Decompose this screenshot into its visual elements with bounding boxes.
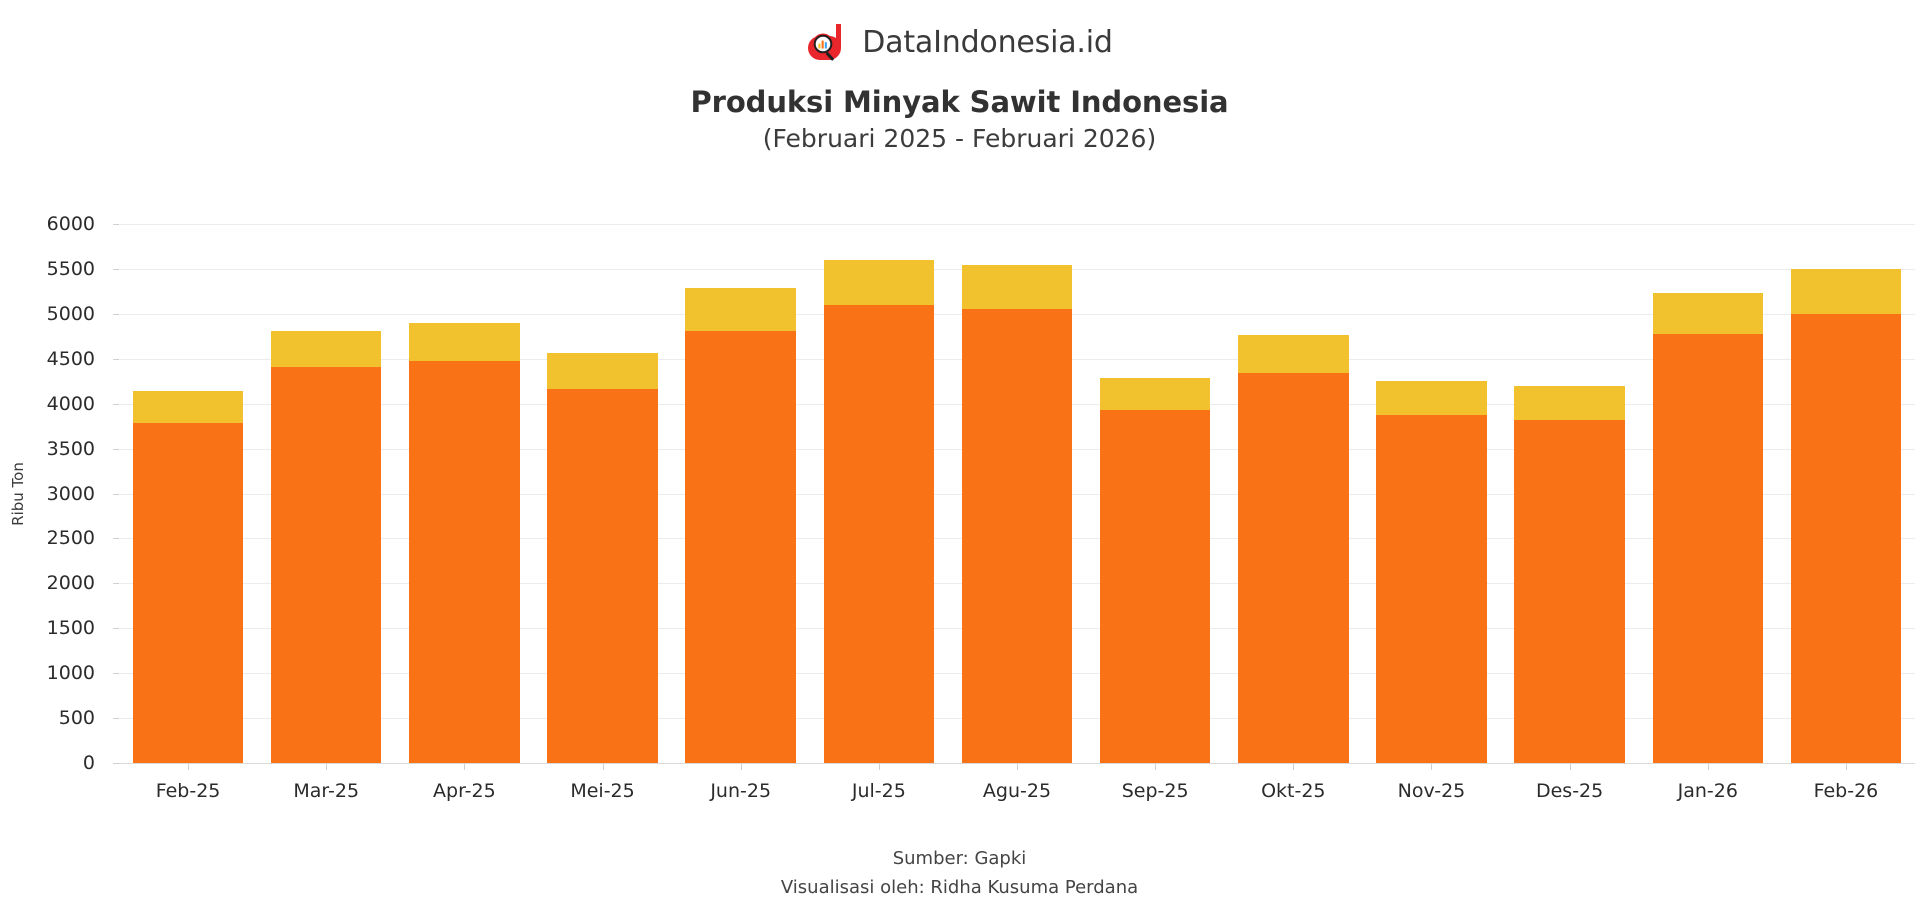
- bar-segment-upper[interactable]: [271, 331, 382, 367]
- y-tick-label: 3000: [25, 483, 95, 505]
- bar-segment-lower[interactable]: [1791, 314, 1902, 763]
- bar-segment-upper[interactable]: [1238, 335, 1349, 372]
- y-tick-mark: [113, 269, 119, 270]
- x-tick-label: Jun-25: [710, 780, 771, 802]
- footer-credit: Visualisasi oleh: Ridha Kusuma Perdana: [0, 877, 1919, 898]
- bar-segment-lower[interactable]: [1100, 410, 1211, 763]
- footer-source: Sumber: Gapki: [0, 848, 1919, 869]
- bar-segment-upper[interactable]: [547, 353, 658, 389]
- x-tick-label: Mei-25: [570, 780, 634, 802]
- x-tick-label: Jul-25: [852, 780, 906, 802]
- y-tick-mark: [113, 673, 119, 674]
- bar-segment-lower[interactable]: [271, 367, 382, 763]
- x-tick-mark: [1155, 763, 1156, 770]
- bar-jan-26[interactable]: [1653, 293, 1764, 763]
- y-tick-mark: [113, 583, 119, 584]
- y-tick-label: 4000: [25, 393, 95, 415]
- x-tick-mark: [188, 763, 189, 770]
- x-tick-mark: [1570, 763, 1571, 770]
- bar-segment-lower[interactable]: [409, 361, 520, 763]
- y-tick-label: 1500: [25, 617, 95, 639]
- y-tick-mark: [113, 404, 119, 405]
- bar-segment-lower[interactable]: [962, 309, 1073, 763]
- bar-sep-25[interactable]: [1100, 378, 1211, 763]
- x-tick-label: Feb-25: [156, 780, 221, 802]
- x-tick-label: Agu-25: [983, 780, 1051, 802]
- chart-page: DataIndonesia.id Produksi Minyak Sawit I…: [0, 0, 1919, 900]
- y-tick-mark: [113, 449, 119, 450]
- bar-segment-upper[interactable]: [1514, 386, 1625, 420]
- bar-segment-upper[interactable]: [133, 391, 244, 423]
- x-tick-mark: [741, 763, 742, 770]
- bar-segment-upper[interactable]: [1100, 378, 1211, 411]
- y-tick-mark: [113, 538, 119, 539]
- bar-nov-25[interactable]: [1376, 381, 1487, 763]
- bar-segment-upper[interactable]: [1791, 269, 1902, 314]
- x-tick-mark: [603, 763, 604, 770]
- y-tick-label: 2500: [25, 527, 95, 549]
- y-tick-label: 2000: [25, 572, 95, 594]
- x-tick-mark: [1708, 763, 1709, 770]
- bar-segment-lower[interactable]: [547, 389, 658, 763]
- bar-segment-lower[interactable]: [824, 305, 935, 763]
- y-tick-mark: [113, 763, 119, 764]
- y-tick-mark: [113, 628, 119, 629]
- bar-des-25[interactable]: [1514, 386, 1625, 763]
- y-tick-label: 3500: [25, 438, 95, 460]
- bar-segment-lower[interactable]: [133, 423, 244, 763]
- bar-mei-25[interactable]: [547, 353, 658, 763]
- x-tick-mark: [879, 763, 880, 770]
- y-tick-label: 6000: [25, 213, 95, 235]
- bar-segment-lower[interactable]: [1376, 415, 1487, 763]
- bar-okt-25[interactable]: [1238, 335, 1349, 763]
- bar-segment-lower[interactable]: [1653, 334, 1764, 763]
- y-tick-mark: [113, 314, 119, 315]
- bar-jul-25[interactable]: [824, 260, 935, 763]
- y-tick-mark: [113, 359, 119, 360]
- y-tick-label: 4500: [25, 348, 95, 370]
- x-tick-mark: [1846, 763, 1847, 770]
- bar-apr-25[interactable]: [409, 323, 520, 763]
- y-tick-label: 5500: [25, 258, 95, 280]
- bar-jun-25[interactable]: [685, 288, 796, 763]
- x-tick-label: Mar-25: [293, 780, 359, 802]
- bar-segment-lower[interactable]: [1238, 373, 1349, 763]
- bar-segment-lower[interactable]: [1514, 420, 1625, 763]
- y-tick-label: 1000: [25, 662, 95, 684]
- chart-plot-area: Ribu Ton 0500100015002000250030003500400…: [0, 0, 1919, 900]
- bar-segment-upper[interactable]: [962, 265, 1073, 309]
- bar-mar-25[interactable]: [271, 331, 382, 763]
- x-tick-mark: [1431, 763, 1432, 770]
- y-tick-label: 0: [25, 752, 95, 774]
- y-tick-mark: [113, 494, 119, 495]
- bar-segment-upper[interactable]: [685, 288, 796, 331]
- bar-segment-upper[interactable]: [1376, 381, 1487, 415]
- x-tick-mark: [1293, 763, 1294, 770]
- bar-feb-25[interactable]: [133, 391, 244, 763]
- bar-segment-upper[interactable]: [1653, 293, 1764, 333]
- y-gridline: [119, 224, 1915, 225]
- x-tick-label: Nov-25: [1398, 780, 1466, 802]
- x-tick-label: Okt-25: [1261, 780, 1325, 802]
- bar-segment-upper[interactable]: [409, 323, 520, 362]
- x-tick-label: Apr-25: [433, 780, 496, 802]
- x-tick-label: Feb-26: [1814, 780, 1879, 802]
- x-tick-label: Jan-26: [1678, 780, 1738, 802]
- y-tick-label: 5000: [25, 303, 95, 325]
- y-tick-mark: [113, 718, 119, 719]
- bar-segment-lower[interactable]: [685, 331, 796, 763]
- x-tick-mark: [326, 763, 327, 770]
- x-tick-label: Sep-25: [1122, 780, 1189, 802]
- x-tick-mark: [1017, 763, 1018, 770]
- y-tick-mark: [113, 224, 119, 225]
- bar-feb-26[interactable]: [1791, 269, 1902, 763]
- x-tick-mark: [464, 763, 465, 770]
- y-tick-label: 500: [25, 707, 95, 729]
- bar-agu-25[interactable]: [962, 265, 1073, 763]
- x-tick-label: Des-25: [1536, 780, 1603, 802]
- bar-segment-upper[interactable]: [824, 260, 935, 305]
